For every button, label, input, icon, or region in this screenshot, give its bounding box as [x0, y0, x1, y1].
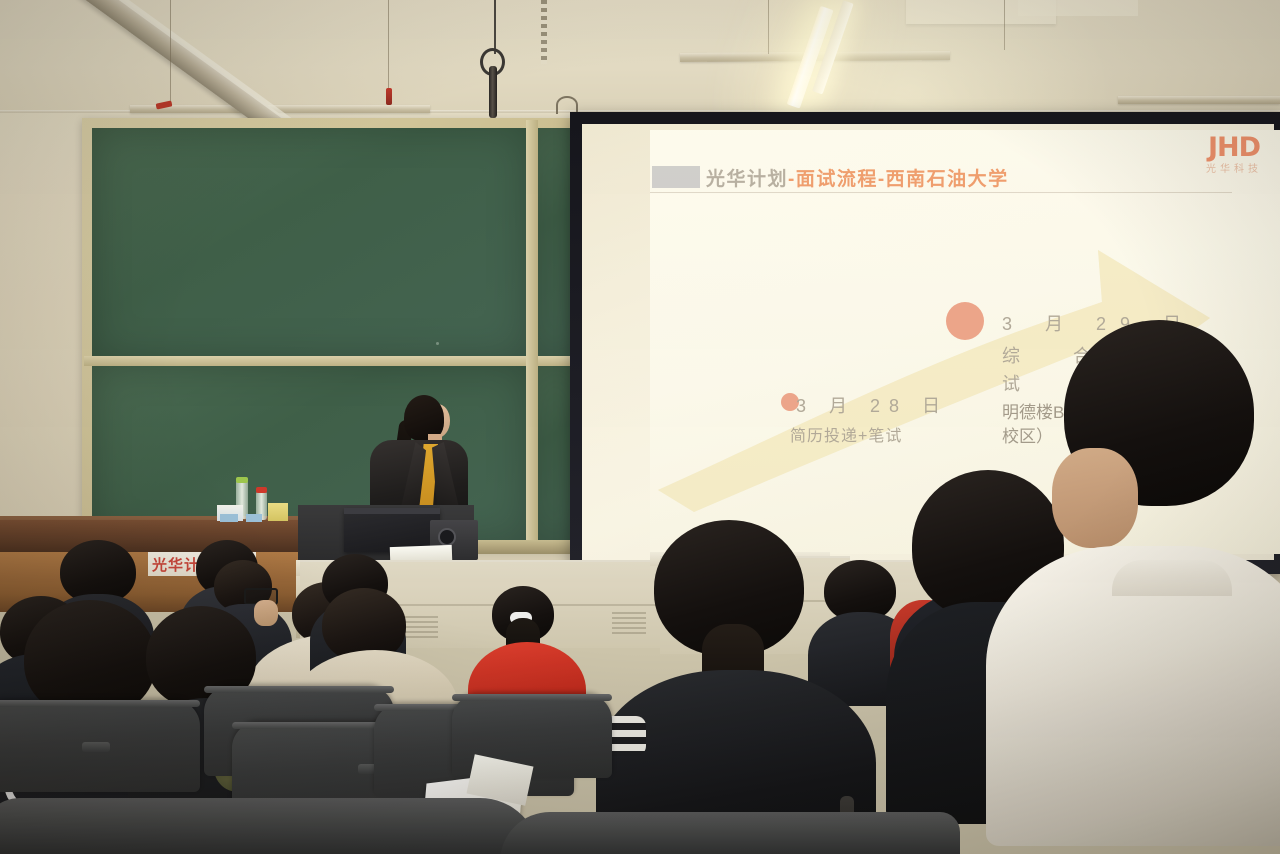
chalkboard-divider — [526, 120, 538, 544]
red-clip — [386, 88, 392, 105]
logo-subtitle: 光华科技 — [1206, 165, 1262, 175]
hanging-microphone — [489, 66, 497, 118]
hanging-wire — [170, 0, 171, 106]
hanging-wire — [388, 0, 389, 90]
wood-ledge — [0, 520, 306, 554]
jhd-logo: JHD 光华科技 — [1206, 134, 1262, 175]
blue-box — [220, 514, 238, 522]
projector-lens — [438, 528, 456, 546]
seat-lip — [204, 686, 394, 693]
hanging-wire — [768, 0, 769, 54]
slide-title: 光华计划-面试流程-西南石油大学 — [706, 164, 1009, 191]
hanging-chain — [541, 0, 547, 64]
ceiling-panel — [1018, 0, 1138, 16]
milestone-1-desc: 简历投递+笔试 — [790, 422, 902, 446]
yellow-box — [268, 503, 288, 521]
blue-box — [246, 514, 262, 522]
milestone-1-date: 3 月 28 日 — [796, 392, 949, 418]
chalkboard-panel — [536, 128, 574, 358]
chalkboard-panel — [92, 128, 526, 358]
hanging-wire — [1004, 0, 1005, 50]
chalkboard-panel — [536, 366, 574, 540]
title-accent-block — [652, 166, 700, 188]
milestone-dot — [946, 302, 984, 340]
cabinet-vent — [612, 612, 646, 634]
bottle-cap — [236, 477, 248, 483]
lecture-hall-photo: 光华计划-面试流程-西南石油大学 JHD 光华科技 3 月 28 日 简历投递+… — [0, 0, 1280, 854]
ceiling-rail — [1118, 96, 1280, 104]
laptop-lid — [344, 508, 440, 514]
cabinet-vent — [404, 616, 438, 638]
seat-tab — [82, 742, 110, 752]
seat-lip — [452, 694, 612, 701]
milestone-2-campus: 校区） — [1002, 422, 1053, 447]
seat-lip — [0, 700, 200, 707]
front-desk-slab — [500, 812, 960, 854]
front-desk-slab — [0, 798, 540, 854]
milestone-2-line3: 试 — [1002, 370, 1020, 396]
neck — [1052, 448, 1138, 548]
bottle-cap — [256, 487, 267, 493]
slide-title-gray: 光华计划 — [706, 169, 788, 190]
slide-title-orange: -面试流程-西南石油大学 — [788, 169, 1009, 190]
chalk-speck — [436, 342, 439, 345]
collar — [1112, 560, 1232, 596]
logo-wordmark: JHD — [1206, 134, 1262, 161]
chalkboard-divider — [84, 356, 574, 366]
microphone-cord — [494, 0, 496, 54]
